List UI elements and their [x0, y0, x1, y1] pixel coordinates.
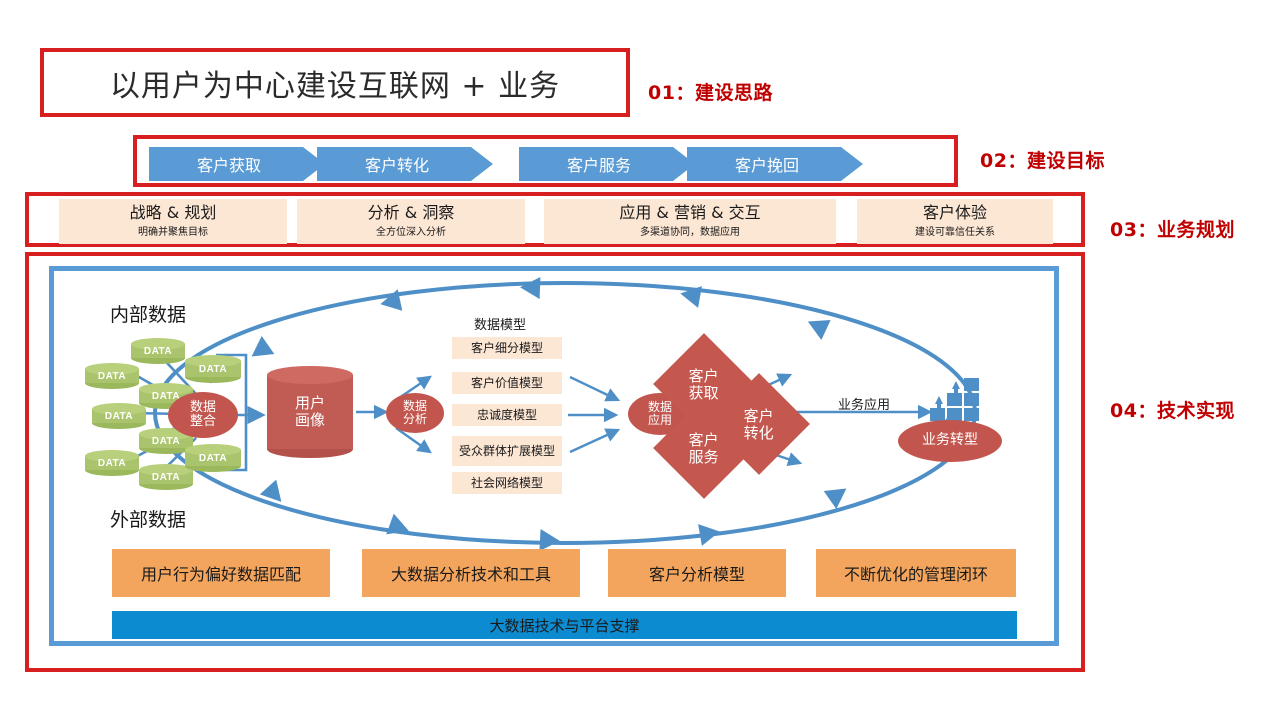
diamond-label: 客户 获取: [689, 367, 719, 400]
growth-arrows-icon: [928, 378, 984, 422]
data-analysis-node[interactable]: 数据 分析: [386, 393, 444, 433]
bottom-box-bigdata-tools[interactable]: 大数据分析技术和工具: [362, 549, 580, 597]
bottom-box-user-behavior[interactable]: 用户行为偏好数据匹配: [112, 549, 330, 597]
data-cylinder[interactable]: DATA: [92, 403, 146, 429]
platform-support-bar[interactable]: 大数据技术与平台支撑: [112, 611, 1017, 639]
data-cylinder-label: DATA: [92, 403, 146, 429]
model-item[interactable]: 忠诚度模型: [452, 404, 562, 426]
data-cylinder-label: DATA: [85, 363, 139, 389]
model-item[interactable]: 客户细分模型: [452, 337, 562, 359]
data-cylinder[interactable]: DATA: [85, 363, 139, 389]
slide-canvas: 以用户为中心建设互联网 + 业务 01：建设思路 客户获取 客户转化 客户服务 …: [0, 0, 1280, 720]
external-data-label: 外部数据: [110, 505, 186, 532]
data-integration-line1: 数据: [190, 401, 216, 415]
bottom-box-analysis-model[interactable]: 客户分析模型: [608, 549, 786, 597]
user-persona-label: 用户 画像: [267, 366, 353, 458]
data-integration-line2: 整合: [190, 415, 216, 429]
internal-data-label: 内部数据: [110, 300, 186, 327]
model-group-title: 数据模型: [474, 314, 526, 333]
bottom-box-optimization[interactable]: 不断优化的管理闭环: [816, 549, 1016, 597]
data-cylinder[interactable]: DATA: [185, 444, 241, 472]
data-cylinder-label: DATA: [131, 338, 185, 364]
persona-line2: 画像: [295, 412, 325, 429]
user-persona-cylinder[interactable]: 用户 画像: [267, 366, 353, 458]
diamond-label: 客户 转化: [744, 407, 774, 440]
persona-line1: 用户: [295, 395, 325, 412]
data-cylinder-label: DATA: [185, 444, 241, 472]
data-integration-node[interactable]: 数据 整合: [168, 392, 238, 438]
model-item[interactable]: 受众群体扩展模型: [452, 436, 562, 466]
model-item[interactable]: 客户价值模型: [452, 372, 562, 394]
model-item[interactable]: 社会网络模型: [452, 472, 562, 494]
growth-chart-icon: [928, 378, 984, 422]
business-transformation-label: 业务转型: [922, 433, 978, 448]
business-apply-label: 业务应用: [838, 394, 890, 413]
diamond-label: 客户 服务: [689, 431, 719, 464]
data-cylinder[interactable]: DATA: [85, 450, 139, 476]
data-cylinder[interactable]: DATA: [131, 338, 185, 364]
business-transformation-node[interactable]: 业务转型: [898, 420, 1002, 462]
data-cylinder[interactable]: DATA: [185, 355, 241, 383]
data-cylinder-label: DATA: [185, 355, 241, 383]
data-cylinder-label: DATA: [85, 450, 139, 476]
data-analysis-line2: 分析: [403, 413, 427, 426]
data-application-line2: 应用: [648, 414, 672, 427]
